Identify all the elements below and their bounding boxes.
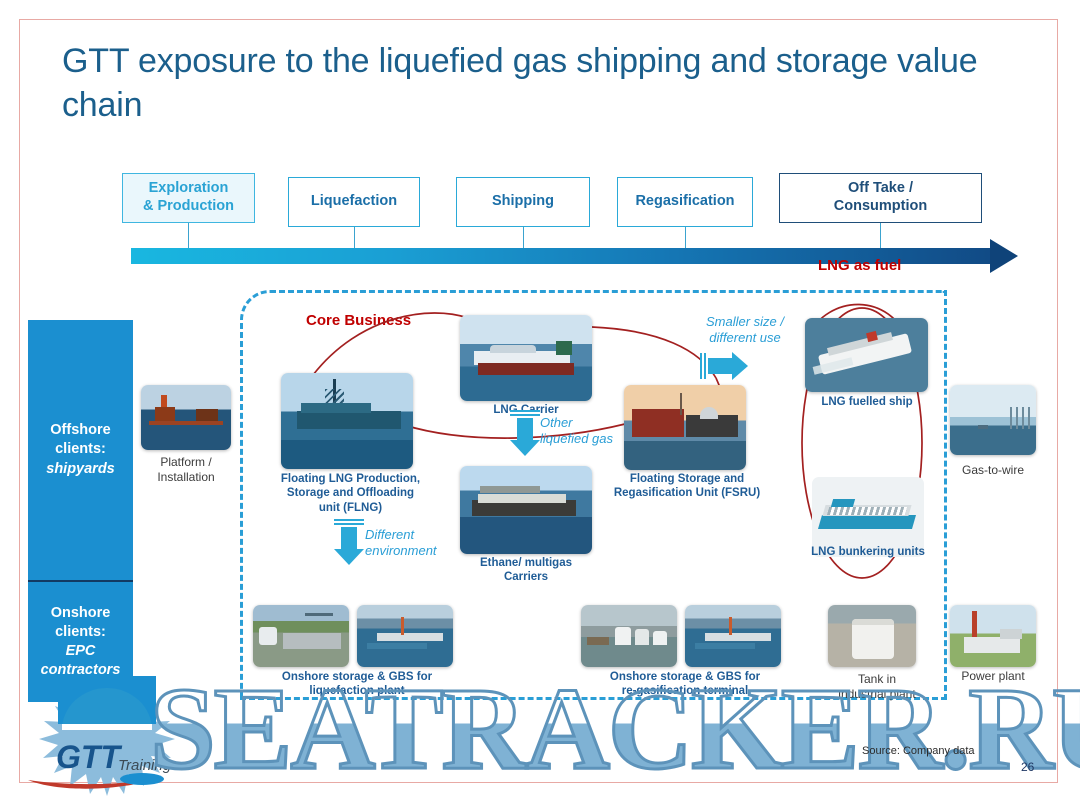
caption-line-1: Tank in xyxy=(830,672,924,687)
page-number: 26 xyxy=(1021,760,1034,774)
chain-step-line1: Shipping xyxy=(492,193,554,211)
caption-onshore-liquefaction: Onshore storage & GBS for liquefaction p… xyxy=(262,670,452,699)
offshore-line1: Offshore xyxy=(50,421,110,440)
caption-line-1: Onshore storage & GBS for xyxy=(262,670,452,684)
caption-lng-fuelled-ship: LNG fuelled ship xyxy=(806,395,928,409)
caption-line-2: Regasification Unit (FSRU) xyxy=(612,486,762,500)
caption-line-1: Onshore storage & GBS for xyxy=(590,670,780,684)
chain-step-shipping[interactable]: Shipping xyxy=(456,177,590,227)
chain-step-offtake-consumption[interactable]: Off Take / Consumption xyxy=(779,173,982,223)
onshore-line2: clients: xyxy=(55,623,106,642)
chain-step-exploration-production[interactable]: Exploration & Production xyxy=(122,173,255,223)
arrow-smaller-size-icon xyxy=(700,352,748,380)
tile-onshore-regasification-b[interactable] xyxy=(685,605,781,667)
caption-power-plant: Power plant xyxy=(946,669,1040,684)
caption-gas-to-wire: Gas-to-wire xyxy=(945,463,1041,478)
gtt-training-logo: GTT Training xyxy=(22,676,192,796)
caption-line-2: Installation xyxy=(130,470,242,485)
offshore-emphasis: shipyards xyxy=(46,460,115,479)
tile-power-plant[interactable] xyxy=(950,605,1036,667)
caption-line-2: industrial plant xyxy=(830,687,924,702)
caption-line-1: Power plant xyxy=(946,669,1040,684)
arrow-different-environment-icon xyxy=(334,519,364,565)
tile-onshore-liquefaction-plant-a[interactable] xyxy=(253,605,349,667)
caption-fsru: Floating Storage and Regasification Unit… xyxy=(612,472,762,501)
tile-onshore-regasification-a[interactable] xyxy=(581,605,677,667)
chain-step-liquefaction[interactable]: Liquefaction xyxy=(288,177,420,227)
chain-step-line2: & Production xyxy=(143,198,234,216)
slide-canvas: GTT exposure to the liquefied gas shippi… xyxy=(0,0,1080,810)
tile-platform-installation[interactable] xyxy=(141,385,231,450)
chain-step-regasification[interactable]: Regasification xyxy=(617,177,753,227)
tile-lng-carrier[interactable] xyxy=(460,315,592,401)
offshore-line2: clients: xyxy=(55,440,106,459)
chain-step-line1: Off Take / xyxy=(834,180,927,198)
caption-line-1: Floating LNG Production, xyxy=(268,472,433,486)
tile-onshore-liquefaction-plant-b[interactable] xyxy=(357,605,453,667)
caption-line-2: re-gasification terminal xyxy=(590,684,780,698)
caption-line-2: Storage and Offloading xyxy=(268,486,433,500)
arrow-other-liquefied-gas-icon xyxy=(510,410,540,456)
caption-line-1: LNG fuelled ship xyxy=(806,395,928,409)
label-line-1: Smaller size / xyxy=(680,314,810,330)
caption-line-1: Platform / xyxy=(130,455,242,470)
tile-flng[interactable] xyxy=(281,373,413,469)
logo-brand-text: GTT xyxy=(56,739,122,775)
caption-platform-installation: Platform / Installation xyxy=(130,455,242,485)
label-other-liquefied-gas: Other liquefied gas xyxy=(540,415,660,448)
label-smaller-size-different-use: Smaller size / different use xyxy=(680,314,810,347)
caption-lng-bunkering-units: LNG bunkering units xyxy=(798,545,938,559)
caption-line-1: Floating Storage and xyxy=(612,472,762,486)
label-line-2: environment xyxy=(365,543,485,559)
lng-as-fuel-label: LNG as fuel xyxy=(818,257,901,274)
label-line-1: Other xyxy=(540,415,660,431)
caption-ethane-multigas: Ethane/ multigas Carriers xyxy=(458,556,594,585)
page-title: GTT exposure to the liquefied gas shippi… xyxy=(62,40,1002,127)
caption-line-1: LNG bunkering units xyxy=(798,545,938,559)
core-business-label: Core Business xyxy=(306,312,411,329)
chain-step-line2: Consumption xyxy=(834,198,927,216)
tile-tank-industrial-plant[interactable] xyxy=(828,605,916,667)
label-line-2: different use xyxy=(680,330,810,346)
caption-flng: Floating LNG Production, Storage and Off… xyxy=(268,472,433,515)
caption-onshore-regasification: Onshore storage & GBS for re-gasificatio… xyxy=(590,670,780,699)
tile-lng-fuelled-ship[interactable] xyxy=(805,318,928,392)
source-note: Source: Company data xyxy=(862,745,975,757)
caption-line-2: Carriers xyxy=(458,570,594,584)
chain-step-line1: Liquefaction xyxy=(311,193,397,211)
caption-tank-industrial-plant: Tank in industrial plant xyxy=(830,672,924,702)
tile-gas-to-wire[interactable] xyxy=(950,385,1036,455)
logo-sub-text: Training xyxy=(118,757,172,774)
value-chain-arrow-head-icon xyxy=(990,239,1018,273)
onshore-emphasis-1: EPC xyxy=(66,642,96,661)
chain-step-line1: Regasification xyxy=(635,193,734,211)
offshore-clients-panel: Offshore clients: shipyards xyxy=(28,320,133,580)
caption-line-3: unit (FLNG) xyxy=(268,501,433,515)
onshore-line1: Onshore xyxy=(51,604,111,623)
caption-line-1: Gas-to-wire xyxy=(945,463,1041,478)
label-different-environment: Different environment xyxy=(365,527,485,560)
caption-line-2: liquefaction plant xyxy=(262,684,452,698)
chain-step-line1: Exploration xyxy=(143,180,234,198)
label-line-2: liquefied gas xyxy=(540,431,660,447)
label-line-1: Different xyxy=(365,527,485,543)
